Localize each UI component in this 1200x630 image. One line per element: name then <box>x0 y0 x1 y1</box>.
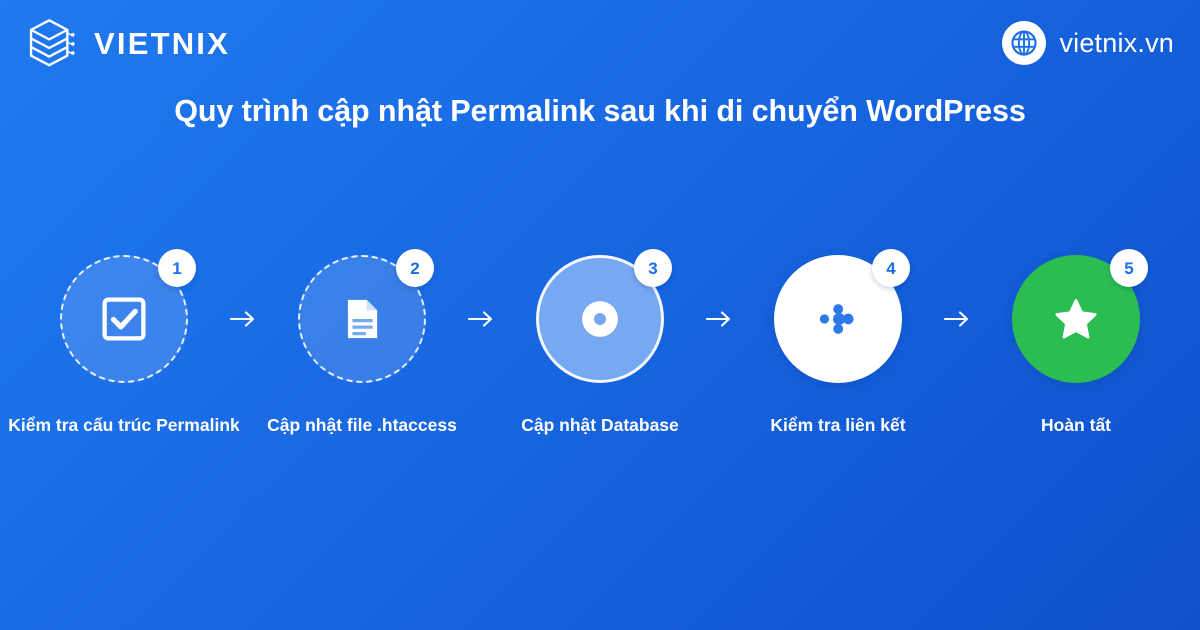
arrow-right-icon-4 <box>933 255 981 383</box>
flow-step-3[interactable]: 3 Cập nhật Database <box>505 255 695 437</box>
flow-step-1[interactable]: 1 Kiểm tra cấu trúc Permalink <box>29 255 219 437</box>
step-node-5[interactable]: 5 <box>1012 255 1140 383</box>
checkbox-check-icon <box>97 292 151 346</box>
step-node-1[interactable]: 1 <box>60 255 188 383</box>
step-label-2: Cập nhật file .htaccess <box>267 415 457 437</box>
step-badge-1: 1 <box>158 249 196 287</box>
flow-step-2[interactable]: 2 Cập nhật file .htaccess <box>267 255 457 437</box>
step-label-1: Kiểm tra cấu trúc Permalink <box>8 415 239 437</box>
brand-name: VIETNIX <box>94 28 230 59</box>
site-url-block[interactable]: vietnix.vn <box>1002 21 1174 65</box>
page-header: VIETNIX vietnix.vn <box>0 0 1200 86</box>
flow-step-4[interactable]: 4 Kiểm tra liên kết <box>743 255 933 437</box>
brand-logo[interactable]: VIETNIX <box>22 14 230 72</box>
stacked-layers-icon <box>22 14 80 72</box>
step-label-5: Hoàn tất <box>1041 415 1111 437</box>
flow-step-5[interactable]: 5 Hoàn tất <box>981 255 1171 437</box>
step-label-4: Kiểm tra liên kết <box>770 415 905 437</box>
step-badge-3: 3 <box>634 249 672 287</box>
step-badge-5: 5 <box>1110 249 1148 287</box>
document-file-icon <box>336 293 388 345</box>
step-node-3[interactable]: 3 <box>536 255 664 383</box>
arrow-right-icon-1 <box>219 255 267 383</box>
arrow-right-icon-2 <box>457 255 505 383</box>
step-node-2[interactable]: 2 <box>298 255 426 383</box>
page-title: Quy trình cập nhật Permalink sau khi di … <box>0 93 1200 130</box>
step-badge-4: 4 <box>872 249 910 287</box>
link-cluster-icon <box>816 297 860 341</box>
globe-icon <box>1002 21 1046 65</box>
disc-database-icon <box>571 290 629 348</box>
step-label-3: Cập nhật Database <box>521 415 679 437</box>
step-node-4[interactable]: 4 <box>774 255 902 383</box>
step-badge-2: 2 <box>396 249 434 287</box>
site-url-text: vietnix.vn <box>1059 30 1174 57</box>
star-icon <box>1050 293 1102 345</box>
arrow-right-icon-3 <box>695 255 743 383</box>
process-flow: 1 Kiểm tra cấu trúc Permalink <box>0 255 1200 437</box>
